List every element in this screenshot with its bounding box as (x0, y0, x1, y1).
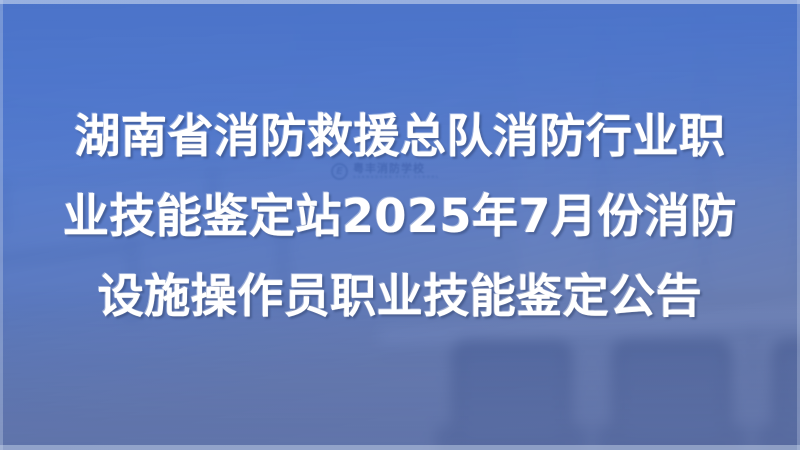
announcement-banner: E 粤丰消防学校 GUANGDONG FIRE SCHOOL 湖南省消防救援总队… (0, 0, 800, 450)
headline-block: 湖南省消防救援总队消防行业职 业技能鉴定站2025年7月份消防 设施操作员职业技… (0, 96, 800, 336)
headline-line-1: 湖南省消防救援总队消防行业职 (75, 96, 726, 176)
frame-edge-top (0, 0, 800, 4)
frame-edge-bottom (0, 445, 800, 450)
headline-line-3: 设施操作员职业技能鉴定公告 (98, 256, 703, 336)
headline-line-2: 业技能鉴定站2025年7月份消防 (63, 176, 737, 256)
